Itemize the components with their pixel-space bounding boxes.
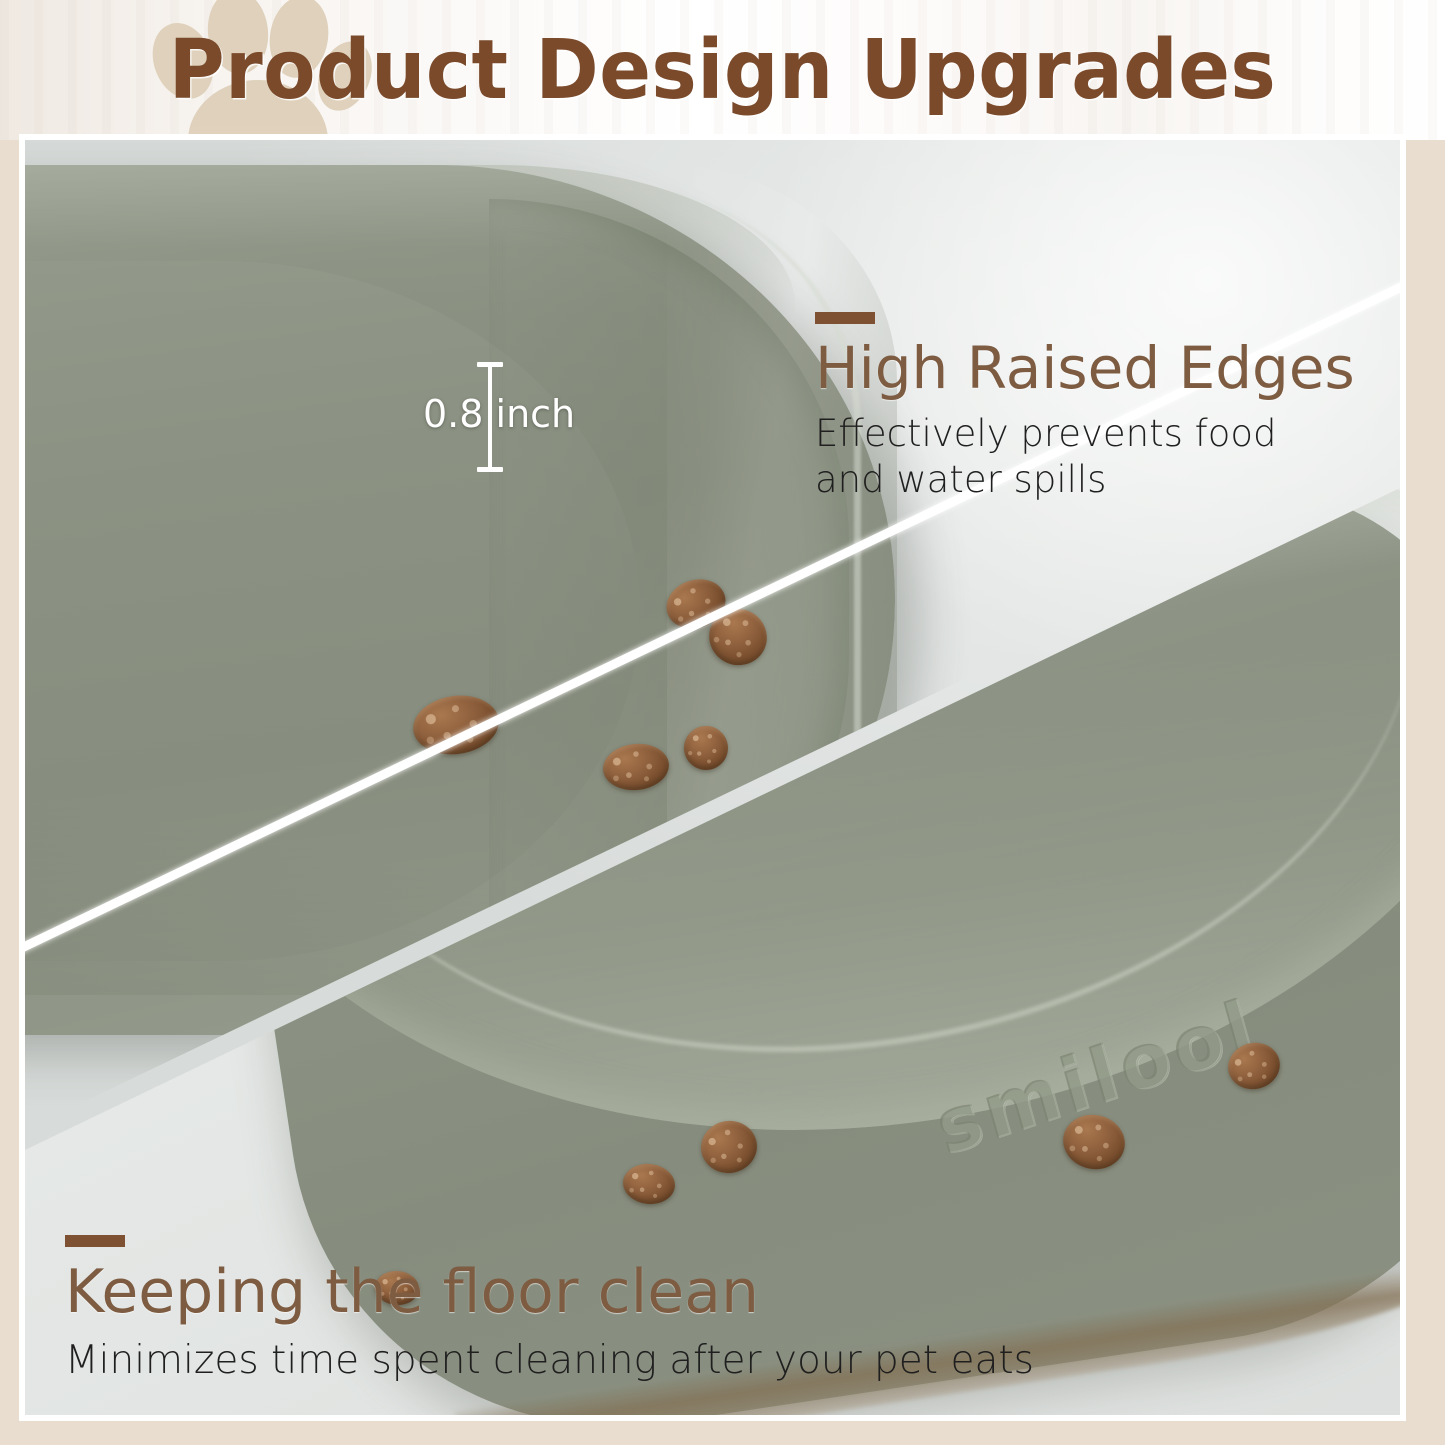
callout-subtext: Minimizes time spent cleaning after your… [65, 1337, 1034, 1385]
callout-subtext: Effectively prevents food and water spil… [815, 411, 1355, 501]
callout-keeping-floor-clean: Keeping the floor clean Minimizes time s… [65, 1235, 1034, 1384]
callout-subtext-line-1: Effectively prevents food [815, 411, 1355, 456]
callout-subtext-line-2: and water spills [815, 457, 1355, 502]
dimension-annotation: 0.8 inch [445, 362, 595, 472]
dimension-label: 0.8 inch [423, 392, 575, 436]
callout-heading: High Raised Edges [815, 338, 1355, 399]
callout-heading: Keeping the floor clean [65, 1261, 1034, 1325]
dimension-tick-bottom [477, 467, 503, 472]
product-photo-panel: smilool 0.8 inch High Raised Edges Effec… [25, 140, 1400, 1415]
callout-accent-bar [65, 1235, 125, 1247]
callout-subtext-line-1: Minimizes time spent cleaning after your… [65, 1337, 1034, 1385]
callout-high-raised-edges: High Raised Edges Effectively prevents f… [815, 312, 1355, 502]
header-band: Product Design Upgrades [0, 0, 1445, 140]
page-title: Product Design Upgrades [51, 0, 1395, 140]
callout-accent-bar [815, 312, 875, 324]
